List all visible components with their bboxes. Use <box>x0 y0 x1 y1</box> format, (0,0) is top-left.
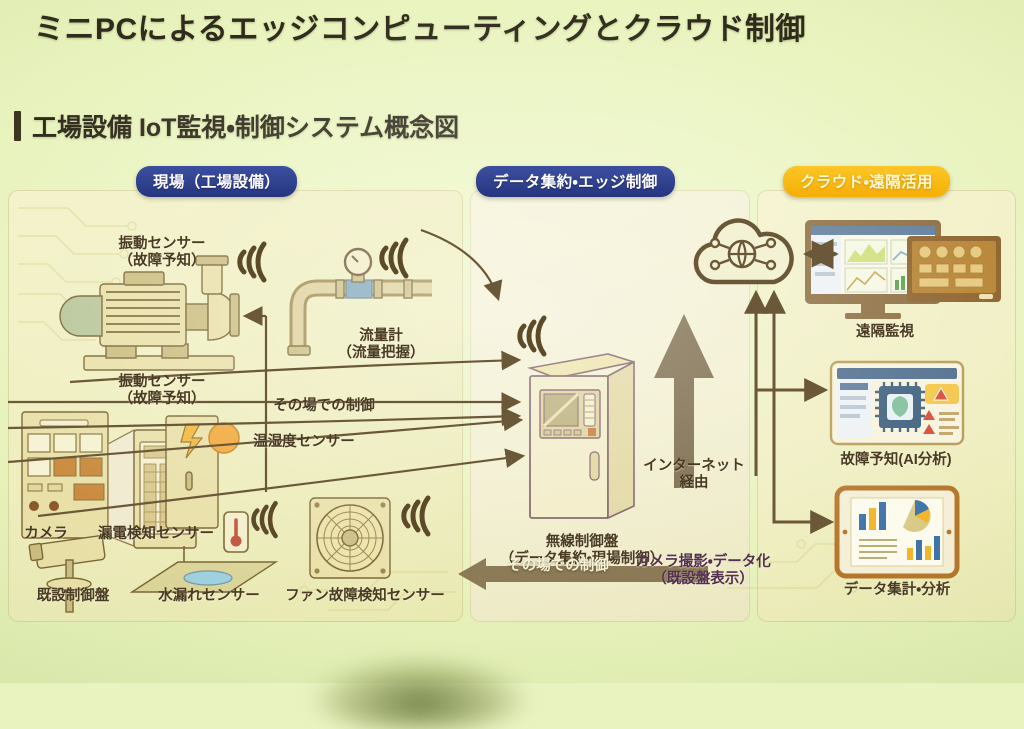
system-diagram: 振動センサー （故障予知） 振動センサー （故障予知） <box>8 176 1016 624</box>
projected-slide: ミニPCによるエッジコンピューティングとクラウド制御 工場設備 IoT監視・制御… <box>0 0 1024 683</box>
label-fan-fault-sensor: ファン故障検知センサー <box>270 588 460 605</box>
wireless-control-cabinet-illustration <box>522 348 642 524</box>
zone-badge-field: 現場（工場設備） <box>136 166 297 197</box>
label-remote-monitor: 遠隔監視 <box>825 324 945 341</box>
label-vibration-sensor-top: 振動センサー （故障予知） <box>92 236 232 270</box>
wifi-signal-icon-temperature <box>250 496 292 536</box>
label-ai-prediction: 故障予知(AI分析) <box>815 452 977 469</box>
remote-monitor-illustration <box>803 218 1003 320</box>
cloud-icon <box>688 212 796 294</box>
label-existing-panel: 既設制御盤 <box>13 588 133 605</box>
zone-badge-edge: データ集約・エッジ制御 <box>476 166 675 197</box>
label-water-leak-sensor: 水漏れセンサー <box>134 588 284 605</box>
section-heading: 工場設備 IoT監視・制御システム概念図 <box>14 108 459 144</box>
label-flow-meter: 流量計 （流量把握） <box>326 328 436 362</box>
label-temp-humidity-sensor: 温湿度センサー <box>224 434 384 451</box>
wifi-signal-icon-flow <box>378 232 424 276</box>
label-data-analytics: データ集計・分析 <box>809 582 985 599</box>
wifi-signal-icon-cabinet <box>516 310 562 354</box>
section-title: 工場設備 IoT監視・制御システム概念図 <box>32 108 459 144</box>
ai-prediction-illustration <box>829 360 965 446</box>
label-camera-capture: カメラ撮影・データ化 （既設盤表示） <box>598 554 808 588</box>
wifi-signal-icon-fan <box>400 490 446 534</box>
zone-panel-field: 振動センサー （故障予知） 振動センサー （故障予知） <box>8 190 463 622</box>
label-leak-current-sensor: 漏電検知センサー <box>66 526 246 543</box>
audience-head-silhouette <box>300 643 540 729</box>
slide-title: ミニPCによるエッジコンピューティングとクラウド制御 <box>34 4 806 48</box>
label-vibration-sensor-bottom: 振動センサー （故障予知） <box>92 374 232 408</box>
label-local-control-top: その場での制御 <box>244 398 404 415</box>
label-internet-route: インターネット 経由 <box>638 458 750 492</box>
wifi-signal-icon-vibration <box>236 236 282 280</box>
section-accent-bar <box>14 111 21 141</box>
zone-badge-cloud: クラウド・遠隔活用 <box>783 166 950 197</box>
fan-illustration <box>308 496 392 580</box>
data-analytics-illustration <box>835 486 959 578</box>
